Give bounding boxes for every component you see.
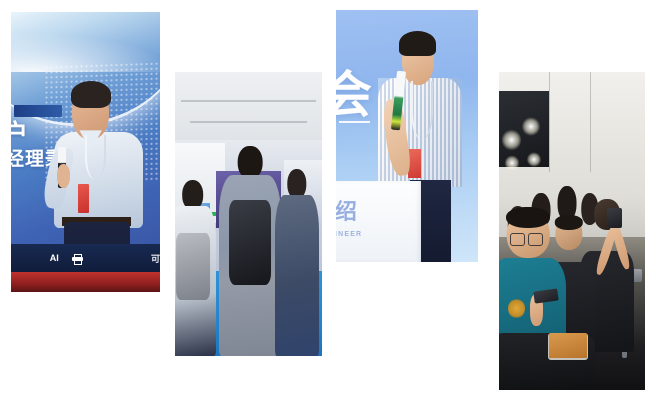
notebook (549, 333, 587, 358)
photo-stage-speaker[interactable]: 户 经理秉 AI 可 (11, 12, 160, 292)
speaker-badge (78, 184, 89, 213)
backdrop-rule (339, 121, 370, 123)
speaker-lanyard (85, 135, 106, 181)
presenter-lanyard (411, 81, 432, 140)
speaker-hand (57, 164, 70, 189)
podium-logo-subtext: INEER (336, 231, 362, 238)
polo-emblem (508, 298, 525, 319)
wall-seam (590, 72, 591, 172)
printer-icon (72, 254, 83, 263)
podium-logo-char: 绍 (336, 194, 357, 226)
ceiling-beam (181, 100, 316, 102)
attendee-left-backpack (175, 180, 216, 356)
photo-exhibition-hall[interactable] (175, 72, 322, 356)
backpack-black (229, 200, 271, 284)
attendee-body (275, 195, 319, 356)
wall-seam (549, 72, 550, 172)
foreground-hair (506, 207, 550, 228)
photo-1-scene: 户 经理秉 AI 可 (11, 12, 160, 292)
stage-front-panel: AI 可 (11, 244, 160, 272)
podium: 绍 INEER (336, 181, 421, 262)
attendee-center-backpack (219, 146, 281, 356)
smartphone-camera (607, 208, 622, 228)
photo-3-scene: 会 绍 INEER (336, 10, 478, 262)
stage-char-label: 可 (151, 252, 160, 265)
photo-podium-speaker[interactable]: 会 绍 INEER (336, 10, 478, 262)
presenter-badge (408, 149, 421, 178)
photo-collage: 户 经理秉 AI 可 (0, 0, 658, 408)
presenter-hair (399, 31, 436, 56)
photo-2-scene (175, 72, 322, 356)
speaker-hair (71, 81, 111, 108)
stage-light (522, 117, 540, 136)
stage-panel-row: AI 可 (11, 244, 160, 272)
ceiling-beam (190, 121, 308, 123)
eyeglasses (510, 233, 543, 244)
stage-ai-label: AI (50, 253, 59, 263)
photo-seated-audience[interactable] (499, 72, 645, 390)
stage-floor (11, 272, 160, 292)
backdrop-banner-char: 会 (336, 55, 376, 127)
stage-light (505, 155, 520, 171)
backpack-grey (176, 233, 210, 300)
hall-ceiling (175, 72, 322, 146)
photo-4-scene (499, 72, 645, 390)
attendee-right (275, 169, 319, 356)
